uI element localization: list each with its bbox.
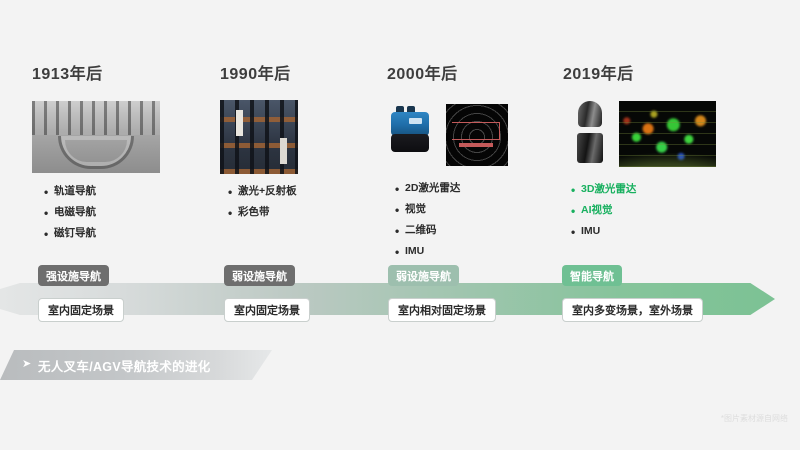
- list-item: •视觉: [395, 204, 460, 216]
- list-item: •激光+反射板: [228, 186, 297, 198]
- scene-chip-4: 室内多变场景，室外场景: [562, 298, 703, 322]
- stage-tag-2: 弱设施导航: [224, 265, 295, 286]
- section-banner-label: 无人叉车/AGV导航技术的进化: [38, 356, 211, 375]
- list-item: •IMU: [395, 246, 460, 258]
- list-item: •磁钉导航: [44, 228, 96, 240]
- list-item-label: 彩色带: [238, 207, 270, 218]
- list-item: •2D激光雷达: [395, 183, 460, 195]
- list-item-label: 磁钉导航: [54, 228, 96, 239]
- bullet-dot-icon: •: [571, 226, 581, 238]
- bullet-dot-icon: •: [44, 228, 54, 240]
- scene-chip-2: 室内固定场景: [224, 298, 310, 322]
- list-item-label: IMU: [581, 226, 600, 237]
- bullet-dot-icon: •: [44, 186, 54, 198]
- 2d-lidar-sensor-photo: [387, 104, 433, 156]
- column-title: 2000年后: [387, 60, 458, 84]
- column-bullet-list: •2D激光雷达 •视觉 •二维码 •IMU: [395, 183, 460, 267]
- stage-tag-3: 弱设施导航: [388, 265, 459, 286]
- warehouse-rack-photo: [220, 100, 298, 174]
- scene-chip-1: 室内固定场景: [38, 298, 124, 322]
- column-bullet-list: •轨道导航 •电磁导航 •磁钉导航: [44, 186, 96, 249]
- list-item: •轨道导航: [44, 186, 96, 198]
- column-title: 1913年后: [32, 60, 103, 84]
- bullet-dot-icon: •: [571, 205, 581, 217]
- list-item-label: AI视觉: [581, 205, 613, 216]
- list-item: •电磁导航: [44, 207, 96, 219]
- column-bullet-list: •激光+反射板 •彩色带: [228, 186, 297, 228]
- list-item: •彩色带: [228, 207, 297, 219]
- list-item: •3D激光雷达: [571, 184, 636, 196]
- bullet-dot-icon: •: [395, 183, 405, 195]
- column-media: [575, 101, 716, 167]
- bullet-dot-icon: •: [228, 207, 238, 219]
- sensor-lens: [409, 118, 422, 124]
- bullet-dot-icon: •: [395, 246, 405, 258]
- column-bullet-list: •3D激光雷达 •AI视觉 •IMU: [571, 184, 636, 247]
- list-item-label: 电磁导航: [54, 207, 96, 218]
- sensor-body: [391, 112, 429, 136]
- section-banner: ➤ 无人叉车/AGV导航技术的进化: [0, 350, 272, 380]
- column-title: 1990年后: [220, 60, 291, 84]
- bullet-dot-icon: •: [395, 225, 405, 237]
- stage-tag-4: 智能导航: [562, 265, 622, 286]
- column-media: [220, 100, 298, 174]
- footnote-text: *图片素材源自网络: [721, 413, 788, 424]
- column-media: [32, 101, 160, 173]
- column-media: [387, 104, 508, 166]
- slide-canvas: 1913年后 •轨道导航 •电磁导航 •磁钉导航 1990年后 •激光+反射板 …: [0, 0, 800, 450]
- list-item-label: 轨道导航: [54, 186, 96, 197]
- list-item-label: 2D激光雷达: [405, 183, 460, 194]
- sensor-cylinder: [577, 133, 603, 163]
- list-item-label: 二维码: [405, 225, 437, 236]
- list-item-label: IMU: [405, 246, 424, 257]
- bullet-dot-icon: •: [228, 186, 238, 198]
- 2d-scan-map-photo: [446, 104, 508, 166]
- 3d-lidar-sensor-photo: [575, 101, 605, 167]
- 3d-point-cloud-photo: [619, 101, 716, 167]
- sensor-dome: [578, 101, 602, 127]
- sensor-base: [391, 134, 429, 152]
- list-item-label: 激光+反射板: [238, 186, 297, 197]
- scene-chip-3: 室内相对固定场景: [388, 298, 496, 322]
- factory-assembly-line-photo: [32, 101, 160, 173]
- bullet-dot-icon: •: [571, 184, 581, 196]
- list-item: •IMU: [571, 226, 636, 238]
- stage-tag-1: 强设施导航: [38, 265, 109, 286]
- chevron-right-icon: ➤: [22, 359, 31, 370]
- list-item: •AI视觉: [571, 205, 636, 217]
- bullet-dot-icon: •: [44, 207, 54, 219]
- bullet-dot-icon: •: [395, 204, 405, 216]
- column-title: 2019年后: [563, 60, 634, 84]
- list-item: •二维码: [395, 225, 460, 237]
- list-item-label: 视觉: [405, 204, 426, 215]
- list-item-label: 3D激光雷达: [581, 184, 636, 195]
